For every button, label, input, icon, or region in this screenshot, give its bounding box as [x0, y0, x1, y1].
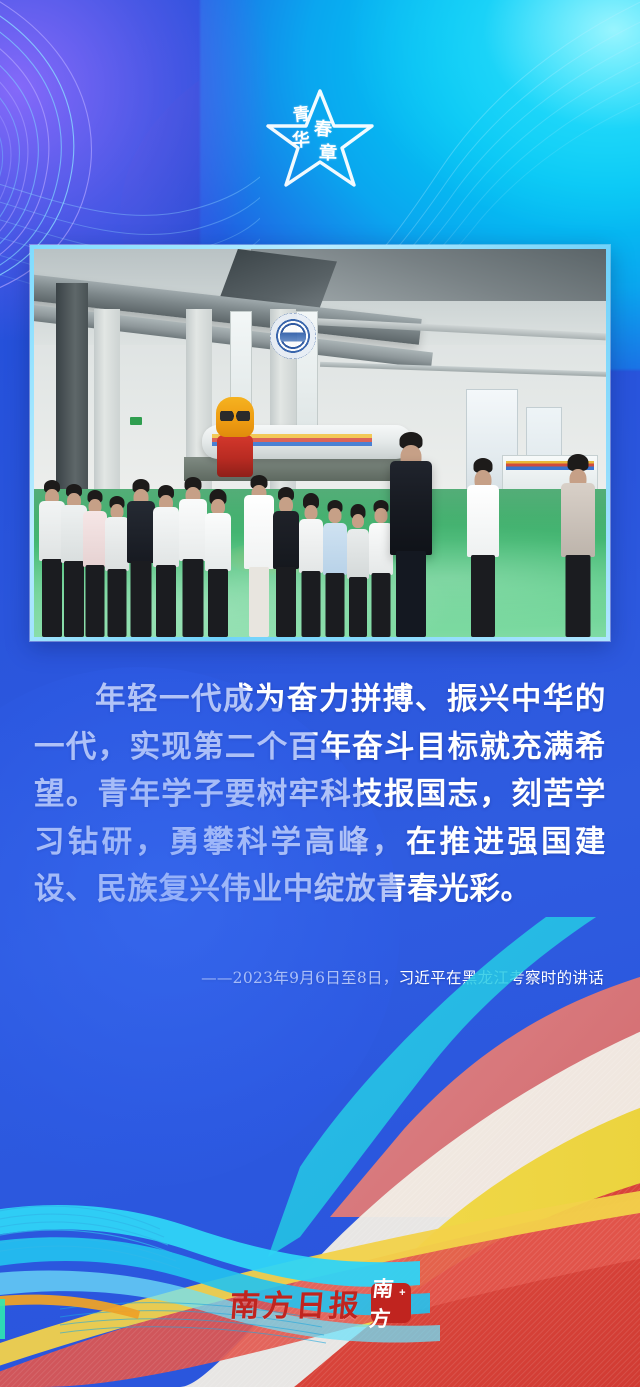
logo-char-zhang: 章 — [319, 145, 338, 164]
person-figure-leader — [390, 415, 432, 637]
person-figure — [244, 457, 274, 637]
person-figure — [204, 471, 232, 637]
exit-sign-icon — [130, 417, 142, 425]
footer-logo: 南方日报 南方 + — [0, 1281, 640, 1325]
person-figure — [346, 487, 370, 637]
logo-char-chun: 春 — [313, 120, 332, 139]
person-figure — [466, 441, 500, 637]
app-badge-icon: 南方 + — [371, 1283, 411, 1323]
logo-container: 青 春 华 章 — [0, 84, 640, 194]
person-figure — [298, 477, 324, 637]
poster-root: 青 春 华 章 — [0, 0, 640, 1387]
person-figure — [560, 439, 596, 637]
person-figure — [152, 467, 180, 637]
photo-image — [34, 249, 606, 637]
logo-char-hua: 华 — [292, 132, 311, 151]
photo-frame — [30, 245, 610, 641]
star-emblem: 青 春 华 章 — [264, 85, 376, 193]
person-figure — [322, 481, 348, 637]
app-badge-plus: + — [399, 1287, 405, 1299]
app-badge-label: 南方 — [367, 1273, 413, 1333]
logo-char-qing: 青 — [292, 106, 311, 125]
wall-emblem-icon — [270, 313, 316, 359]
person-figure — [272, 469, 300, 637]
newspaper-wordmark: 南方日报 — [228, 1281, 364, 1325]
